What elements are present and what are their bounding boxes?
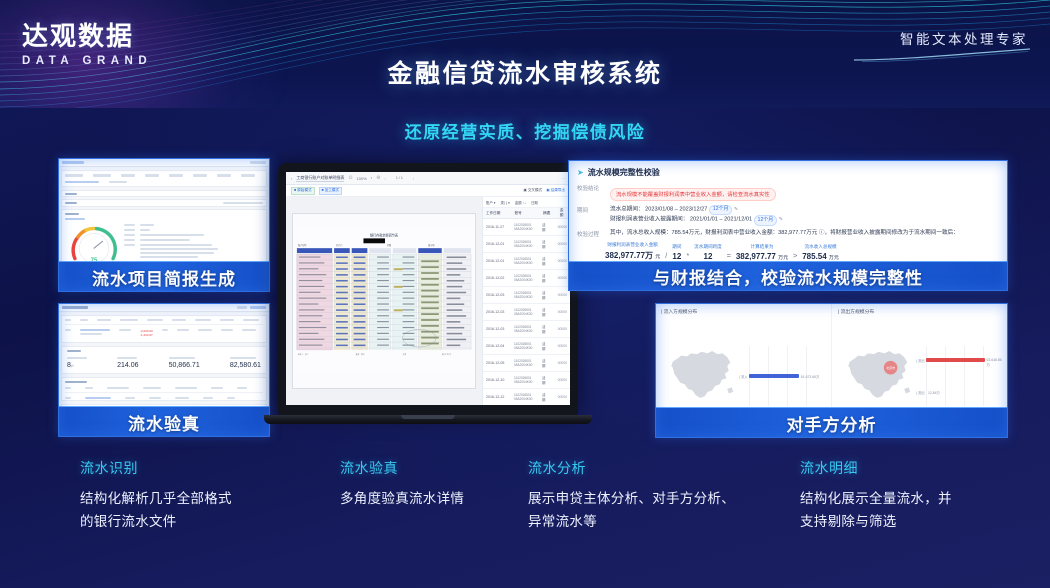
data-table-header: 工作日期 账号 摘要 金额 [483, 208, 570, 219]
integrity-formula: 财报利润表营业收入金额382,977.77万 元/期间12*流水期间跨度12=计… [577, 242, 999, 261]
row-amount: 00000 [558, 242, 567, 246]
china-map-inflow-icon [661, 345, 739, 407]
row-amount: 00000 [558, 361, 567, 365]
row-note: 活期 [542, 256, 549, 266]
formula-term-label: 财报利润表营业收入金额 [605, 242, 660, 248]
row-amount: 00000 [558, 225, 567, 229]
formula-term-label: 流水收入总规模 [802, 244, 839, 250]
period-report-value: 2021/01/01 – 2021/12/01 [690, 217, 752, 223]
mode-compare-button[interactable]: ▣ 交叉模式 [523, 188, 542, 193]
report-section-2 [61, 199, 267, 207]
feature-title-2: 流水分析 [528, 458, 793, 478]
feature-desc-0: 结构化解析几乎全部格式 的银行流水文件 [80, 487, 330, 533]
row-note: 活期 [542, 307, 549, 317]
card-integrity-caption: 与财报结合，校验流水规模完整性 [568, 261, 1008, 291]
row-amount: 00000 [558, 276, 567, 280]
row-amount: 00000 [558, 293, 567, 297]
svg-text:银行存款余额调节表: 银行存款余额调节表 [370, 232, 399, 237]
settings-icon[interactable]: ⊙ [348, 175, 352, 181]
row-note: 活期 [542, 222, 549, 232]
laptop-notch [401, 415, 455, 419]
inflow-bar-label: | 流入 [739, 374, 748, 379]
scanned-table-graphic: 银行存款余额调节表 账户名称开户行 余额调节项 [293, 214, 475, 388]
card-verify[interactable]: -2,000.00-1,234.67 8户 214.06 50,866.71 8… [58, 303, 270, 437]
row-date: 2016-12-01 [486, 242, 511, 246]
doc-mode-bar[interactable]: ■ 原始模式 ■ 加工模式 ▣ 交叉模式 ▣ 结果导出 [286, 185, 570, 197]
outflow-bar-value: 63,648.86万 [987, 358, 1002, 367]
row-date: 2016-12-02 [486, 276, 511, 280]
table-row[interactable]: 2016-12-12110202650105A2004K00活期00000 [483, 389, 570, 405]
formula-term-value: 785.54 万元 [802, 252, 839, 261]
scanned-statement-sheet: 银行存款余额调节表 账户名称开户行 余额调节项 [292, 213, 476, 389]
integrity-conclusion-label: 校验结论 [577, 183, 603, 201]
row-date: 2016-12-03 [486, 293, 511, 297]
formula-term-value: 12 [672, 252, 681, 261]
formula-term: 流水期间跨度12 [694, 244, 722, 261]
doc-body: 银行存款余额调节表 账户名称开户行 余额调节项 [286, 197, 570, 405]
formula-term-label: 计算结果为 [736, 244, 788, 250]
formula-term-label: 期间 [672, 244, 681, 250]
filter-date[interactable]: 日期 [531, 200, 538, 205]
integrity-period-label: 期间 [577, 205, 603, 226]
feature-item-2: 流水分析 展示申贷主体分析、对手方分析、 异常流水等 [528, 458, 793, 533]
mode-structured-button[interactable]: ■ 加工模式 [319, 187, 343, 195]
feature-item-3: 流水明细 结构化展示全量流水，并 支持剔除与筛选 [800, 458, 1030, 533]
row-account: 110202650105A2004K00 [514, 325, 539, 333]
period-report-label: 财报利润表营业收入披露期间： [610, 217, 688, 223]
table-row[interactable]: 2016-11-27110202650105A2004K00活期00000 [483, 219, 570, 236]
outflow-bar-chart: | 流出 63,648.86万 | 流出 12,84万 [916, 346, 1002, 406]
integrity-panel-header: ➤ 流水规模完整性校验 [577, 167, 999, 178]
table-row[interactable]: 2016-12-02110202650105A2004K00活期00000 [483, 270, 570, 287]
feature-list: 流水识别 结构化解析几乎全部格式 的银行流水文件 流水验真 多角度验真流水详情 … [0, 452, 1050, 572]
row-amount: 00000 [558, 378, 567, 382]
row-amount: 00000 [558, 327, 567, 331]
row-amount: 00000 [558, 344, 567, 348]
hot-region-label: 北京市 [886, 364, 895, 369]
row-account: 110202650105A2004K00 [514, 240, 539, 248]
table-row[interactable]: 2016-12-05110202650105A2004K00活期00000 [483, 355, 570, 372]
row-account: 110202650105A2004K00 [514, 376, 539, 384]
outflow-bar2-value: 12,84万 [928, 390, 940, 395]
feature-title-0: 流水识别 [80, 458, 330, 478]
integrity-process-label: 校验过程 [577, 229, 603, 238]
row-account: 110202650105A2004K00 [514, 257, 539, 265]
formula-operator: / [665, 253, 667, 261]
integrity-conclusion-row: 校验结论 流水规模不能覆盖财报利润表中营业收入金额，请检查流水真实性 [577, 183, 999, 201]
card-verify-caption-text: 流水验真 [128, 410, 200, 435]
outflow-bar [926, 358, 984, 363]
edit-icon-2[interactable]: ✎ [779, 217, 783, 223]
feature-item-0: 流水识别 结构化解析几乎全部格式 的银行流水文件 [80, 458, 330, 533]
data-filter-bar[interactable]: 账户 ▾ 类儿 ▾ 金额 ↑↓ 日期 [483, 197, 570, 208]
filter-account[interactable]: 账户 ▾ [486, 200, 495, 205]
formula-operator: > [793, 253, 797, 261]
row-account: 110202650105A2004K00 [514, 308, 539, 316]
table-row[interactable]: 2016-12-01110202650105A2004K00活期00000 [483, 236, 570, 253]
expand-arrow-icon[interactable]: ➤ [577, 168, 584, 177]
row-account: 110202650105A2004K00 [514, 342, 539, 350]
page-subtitle: 还原经营实质、挖掘偿债风险 [0, 118, 1050, 143]
doc-data-pane[interactable]: 账户 ▾ 类儿 ▾ 金额 ↑↓ 日期 工作日期 账号 摘要 金额 2016-11… [482, 197, 570, 405]
card-report-caption: 流水项目简报生成 [58, 261, 270, 292]
period-report-pill[interactable]: 12个月 [754, 215, 778, 226]
period-total-value: 2023/01/08 – 2023/12/27 [645, 206, 707, 212]
filter-amount[interactable]: 金额 ↑↓ [515, 200, 526, 205]
verify-summary-panel: 8户 214.06 50,866.71 82,580.61 [61, 346, 267, 374]
formula-term: 财报利润表营业收入金额382,977.77万 元 [605, 242, 660, 261]
card-integrity[interactable]: ➤ 流水规模完整性校验 校验结论 流水规模不能覆盖财报利润表中营业收入金额，请检… [568, 160, 1008, 291]
report-section-1 [61, 190, 267, 197]
data-table-rows[interactable]: 2016-11-27110202650105A2004K00活期00000201… [483, 219, 570, 405]
card-report[interactable]: 75 282笔 1户 20个 785.54万 -1,537.77万 [58, 158, 270, 292]
card-counterparty-caption-text: 对手方分析 [787, 411, 877, 436]
integrity-period-line1: 流水总期间： 2023/01/08 – 2023/12/27 12个月 ✎ [610, 205, 783, 216]
formula-operator: * [686, 253, 689, 261]
row-amount: 00000 [558, 310, 567, 314]
row-note: 活期 [542, 375, 549, 385]
back-icon[interactable]: ‹ [291, 176, 292, 181]
integrity-period-line2: 财报利润表营业收入披露期间： 2021/01/01 – 2021/12/01 1… [610, 215, 783, 226]
verify-mock-toolbar [58, 303, 270, 312]
row-account: 110202650105A2004K00 [514, 223, 539, 231]
formula-term: 计算结果为382,977.77 万元 [736, 244, 788, 261]
col-amount: 金额 [560, 208, 567, 218]
row-note: 活期 [542, 324, 549, 334]
prev-page-icon[interactable]: ‹ [385, 176, 386, 181]
outflow-bar-label: | 流出 [916, 358, 925, 363]
integrity-process-row: 校验过程 其中，流水总收入规模：785.54万元，财报利润表中营业收入金额：38… [577, 229, 999, 238]
inflow-bar-value: 51,673.66万 [801, 374, 819, 379]
chevron-down-icon[interactable]: ▾ [371, 176, 373, 180]
card-counterparty-caption: 对手方分析 [655, 407, 1008, 438]
inflow-bar [749, 374, 799, 379]
formula-term: 流水收入总规模785.54 万元 [802, 244, 839, 261]
row-date: 2016-12-01 [486, 259, 511, 263]
report-filter-panel [61, 170, 267, 187]
row-note: 活期 [542, 358, 549, 368]
formula-term-value: 382,977.77万 元 [605, 250, 660, 261]
row-note: 活期 [542, 341, 549, 351]
table-row[interactable]: 2016-12-03110202650105A2004K00活期00000 [483, 304, 570, 321]
inflow-bar-chart: | 流入 51,673.66万 [739, 346, 825, 406]
logo-chinese-text: 达观数据 [22, 22, 152, 51]
feature-desc-1: 多角度验真流水详情 [340, 487, 520, 510]
row-amount: 00000 [558, 395, 567, 399]
row-account: 110202650105A2004K00 [514, 291, 539, 299]
outflow-map-title: | 流出方规模分布 [838, 308, 1002, 315]
formula-operator: = [727, 253, 731, 261]
doc-tab-label: 工商银行账户对账单明细表 [296, 175, 344, 182]
china-map-outflow-icon: 北京市 [838, 345, 916, 407]
row-note: 活期 [542, 290, 549, 300]
outflow-bar2-label: | 流出 [916, 390, 925, 395]
page-indicator: 1 / 1 [396, 176, 403, 180]
mode-original-button[interactable]: ■ 原始模式 [291, 187, 315, 195]
row-note: 活期 [542, 273, 549, 283]
row-account: 110202650105A2004K00 [514, 359, 539, 367]
table-row[interactable]: 2016-12-01110202650105A2004K00活期00000 [483, 253, 570, 270]
period-total-label: 流水总期间： [610, 206, 644, 212]
row-date: 2016-12-04 [486, 344, 511, 348]
formula-term-label: 流水期间跨度 [694, 244, 722, 250]
verify-table-1: -2,000.00-1,234.67 [61, 315, 267, 343]
formula-term-value: 382,977.77 万元 [736, 252, 788, 261]
row-date: 2016-12-03 [486, 310, 511, 314]
row-date: 2016-11-27 [486, 225, 511, 229]
export-button[interactable]: ▣ 结果导出 [546, 188, 565, 193]
formula-term-value: 12 [694, 252, 722, 261]
row-date: 2016-12-12 [486, 395, 511, 399]
filter-type[interactable]: 类儿 ▾ [500, 200, 509, 205]
doc-scan-pane[interactable]: 银行存款余额调节表 账户名称开户行 余额调节项 [286, 197, 482, 405]
row-account: 110202650105A2004K00 [514, 393, 539, 401]
card-counterparty[interactable]: | 流入方规模分布 | 流入 51,673.66万 [655, 303, 1008, 438]
laptop-screen: ‹ 工商银行账户对账单明细表 ⊙ 100% ▾ ⊛ ‹ 1 / 1 › ⋯ ■ … [286, 172, 570, 405]
edit-icon-1[interactable]: ✎ [734, 206, 738, 212]
brand-tagline: 智能文本处理专家 [900, 28, 1028, 48]
card-integrity-caption-text: 与财报结合，校验流水规模完整性 [653, 264, 923, 289]
laptop-body: ‹ 工商银行账户对账单明细表 ⊙ 100% ▾ ⊛ ‹ 1 / 1 › ⋯ ■ … [278, 163, 578, 415]
row-account: 110202650105A2004K00 [514, 274, 539, 282]
verify-table-2 [61, 377, 267, 401]
table-row[interactable]: 2016-12-04110202650105A2004K00活期00000 [483, 338, 570, 355]
feature-item-1: 流水验真 多角度验真流水详情 [340, 458, 520, 510]
zoom-level[interactable]: 100% [357, 176, 367, 181]
integrity-warning-badge: 流水规模不能覆盖财报利润表中营业收入金额，请检查流水真实性 [610, 188, 776, 201]
feature-title-1: 流水验真 [340, 458, 520, 478]
integrity-period-row: 期间 流水总期间： 2023/01/08 – 2023/12/27 12个月 ✎… [577, 205, 999, 226]
card-report-caption-text: 流水项目简报生成 [92, 265, 236, 290]
integrity-process-text: 其中，流水总收入规模：785.54万元，财报利润表中营业收入金额：382,977… [610, 229, 959, 238]
period-total-pill[interactable]: 12个月 [709, 205, 733, 216]
table-row[interactable]: 2016-12-10110202650105A2004K00活期00000 [483, 372, 570, 389]
row-date: 2016-12-05 [486, 361, 511, 365]
col-note: 摘要 [543, 211, 557, 216]
card-verify-caption: 流水验真 [58, 406, 270, 437]
formula-term: 期间12 [672, 244, 681, 261]
next-page-icon[interactable]: › [413, 176, 414, 181]
doc-toolbar[interactable]: ‹ 工商银行账户对账单明细表 ⊙ 100% ▾ ⊛ ‹ 1 / 1 › ⋯ [286, 172, 570, 185]
row-note: 活期 [542, 392, 549, 402]
risk-score-gauge: 75 [68, 222, 120, 264]
col-account: 账号 [515, 211, 541, 216]
table-row[interactable]: 2016-12-03110202650105A2004K00活期00000 [483, 321, 570, 338]
feature-title-3: 流水明细 [800, 458, 1030, 478]
table-row[interactable]: 2016-12-03110202650105A2004K00活期00000 [483, 287, 570, 304]
col-date: 工作日期 [486, 211, 512, 216]
feature-desc-2: 展示申贷主体分析、对手方分析、 异常流水等 [528, 487, 793, 533]
laptop-mockup: ‹ 工商银行账户对账单明细表 ⊙ 100% ▾ ⊛ ‹ 1 / 1 › ⋯ ■ … [278, 163, 578, 443]
row-note: 活期 [542, 239, 549, 249]
more-icon[interactable]: ⋯ [561, 176, 565, 181]
fit-icon[interactable]: ⊛ [376, 175, 380, 181]
feature-desc-3: 结构化展示全量流水，并 支持剔除与筛选 [800, 487, 1030, 533]
page-title: 金融信贷流水审核系统 [0, 54, 1050, 90]
row-date: 2016-12-03 [486, 327, 511, 331]
report-mock-toolbar [58, 158, 270, 167]
inflow-map-title: | 流入方规模分布 [661, 308, 825, 315]
integrity-panel-title: 流水规模完整性校验 [588, 167, 660, 178]
row-date: 2016-12-10 [486, 378, 511, 382]
row-amount: 00000 [558, 259, 567, 263]
